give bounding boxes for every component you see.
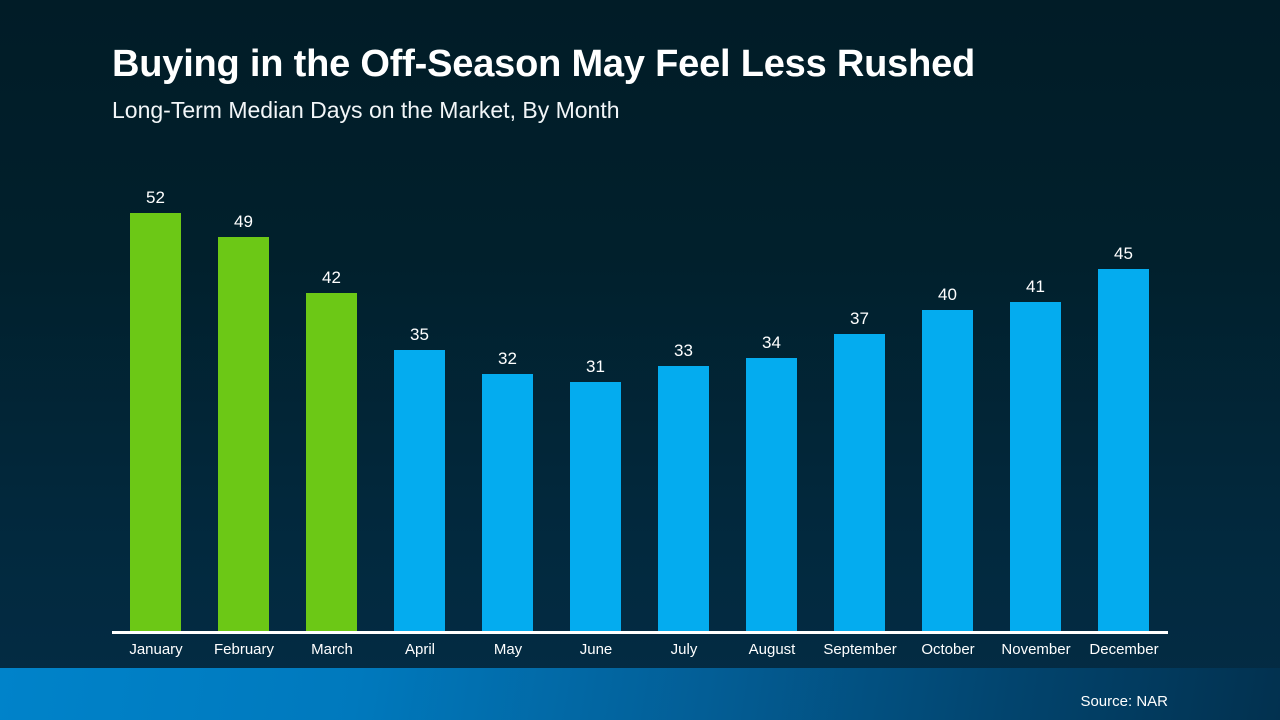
bar-value-label: 35 [394, 326, 445, 343]
bar-value-label: 45 [1098, 245, 1149, 262]
bar [834, 334, 885, 632]
bar-value-label: 34 [746, 334, 797, 351]
bar-column: 49 [218, 213, 269, 632]
bar-value-label: 37 [834, 310, 885, 327]
bar-column: 41 [1010, 278, 1061, 632]
page-title: Buying in the Off-Season May Feel Less R… [112, 44, 1212, 85]
x-axis-tick-labels: JanuaryFebruaryMarchAprilMayJuneJulyAugu… [112, 639, 1168, 665]
source-attribution: Source: NAR [1080, 693, 1168, 710]
chart-plot-area: 524942353231333437404145 [112, 175, 1168, 632]
bar-value-label: 41 [1010, 278, 1061, 295]
bar-group: 31 [552, 175, 640, 632]
bar-column: 33 [658, 342, 709, 632]
bar-value-label: 32 [482, 350, 533, 367]
bar [658, 366, 709, 632]
x-axis-label-august: August [728, 639, 816, 661]
footer-bar: Source: NAR [0, 668, 1280, 720]
bar-column: 34 [746, 334, 797, 632]
bar-group: 42 [288, 175, 376, 632]
x-axis-label-june: June [552, 639, 640, 661]
bar-column: 40 [922, 286, 973, 632]
bar-column: 42 [306, 269, 357, 632]
slide-canvas: Buying in the Off-Season May Feel Less R… [0, 0, 1280, 720]
bar-value-label: 33 [658, 342, 709, 359]
bar-group: 33 [640, 175, 728, 632]
bar-value-label: 42 [306, 269, 357, 286]
bar-group: 32 [464, 175, 552, 632]
bar-column: 52 [130, 189, 181, 632]
bar-value-label: 31 [570, 358, 621, 375]
bar [922, 310, 973, 632]
bar-value-label: 49 [218, 213, 269, 230]
bar-column: 31 [570, 358, 621, 632]
bar [746, 358, 797, 632]
bar-value-label: 52 [130, 189, 181, 206]
bar-group: 35 [376, 175, 464, 632]
bar-group: 37 [816, 175, 904, 632]
x-axis-label-october: October [904, 639, 992, 661]
bar-group: 49 [200, 175, 288, 632]
x-axis-label-april: April [376, 639, 464, 661]
x-axis-label-march: March [288, 639, 376, 661]
bar [1010, 302, 1061, 632]
bar [1098, 269, 1149, 632]
bar-group: 41 [992, 175, 1080, 632]
bar-column: 32 [482, 350, 533, 632]
x-axis-line [112, 631, 1168, 634]
bar-series: 524942353231333437404145 [112, 175, 1168, 632]
bar-group: 40 [904, 175, 992, 632]
x-axis-label-february: February [200, 639, 288, 661]
x-axis-label-may: May [464, 639, 552, 661]
bar [130, 213, 181, 632]
bar [482, 374, 533, 632]
bar-group: 45 [1080, 175, 1168, 632]
bar [218, 237, 269, 632]
bar-value-label: 40 [922, 286, 973, 303]
x-axis-label-july: July [640, 639, 728, 661]
bar [306, 293, 357, 632]
x-axis-label-december: December [1080, 639, 1168, 661]
bar-column: 45 [1098, 245, 1149, 632]
bar-group: 52 [112, 175, 200, 632]
bar [394, 350, 445, 632]
bar-column: 35 [394, 326, 445, 632]
bar-column: 37 [834, 310, 885, 632]
chart-subtitle: Long-Term Median Days on the Market, By … [112, 98, 1212, 123]
x-axis-label-november: November [992, 639, 1080, 661]
bar-group: 34 [728, 175, 816, 632]
x-axis-label-september: September [816, 639, 904, 661]
chart-header: Buying in the Off-Season May Feel Less R… [112, 44, 1212, 123]
bar [570, 382, 621, 632]
x-axis-label-january: January [112, 639, 200, 661]
